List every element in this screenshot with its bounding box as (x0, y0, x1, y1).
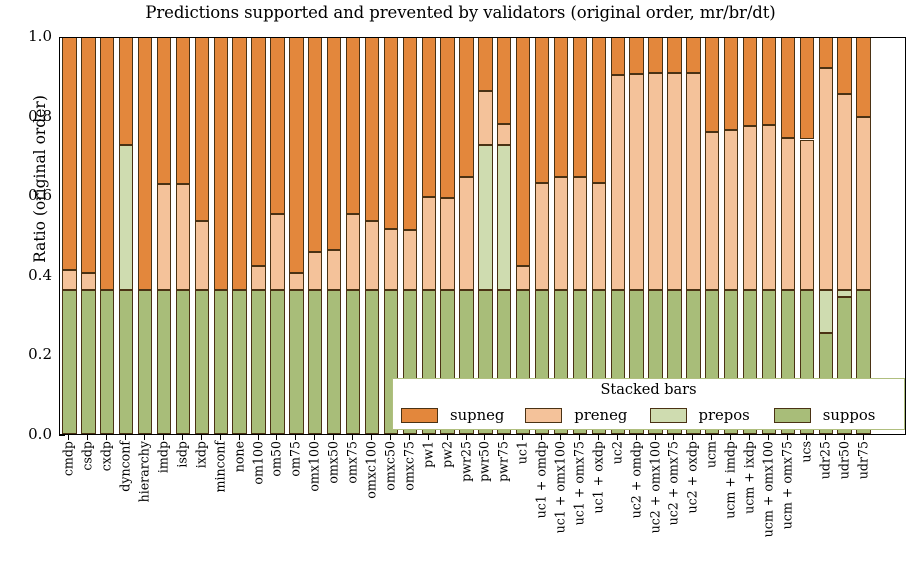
bar-uc1-plus-omx75[interactable] (573, 37, 587, 434)
bar-segment-supneg (289, 37, 303, 273)
x-tick-label: omx75 (346, 441, 359, 484)
bar-segment-supneg (157, 37, 171, 184)
bar-cmdp[interactable] (62, 37, 76, 434)
x-tick-label: om75 (289, 441, 302, 477)
x-tick-label: ixdp (194, 441, 207, 468)
bar-segment-preneg (289, 273, 303, 290)
bar-segment-suppos (176, 290, 190, 434)
x-tick-label: uc1 (516, 441, 529, 464)
bar-segment-supneg (403, 37, 417, 230)
legend-items: supnegprenegprepossuppos (401, 404, 898, 426)
x-tick-label: uc2 + omdp (629, 441, 642, 518)
bar-segment-supneg (422, 37, 436, 197)
x-tick-label: pw2 (440, 441, 453, 468)
bar-segment-preneg (667, 73, 681, 289)
x-tick-label: uc2 + omx75 (667, 441, 680, 525)
x-tick-label: pw1 (421, 441, 434, 468)
x-tick-mark (560, 435, 561, 440)
bar-segment-suppos (308, 290, 322, 434)
x-tick-label: uc2 (610, 441, 623, 464)
bar-segment-suppos (270, 290, 284, 434)
bar-segment-preneg (648, 73, 662, 289)
bar-ucm-plus-ixdp[interactable] (743, 37, 757, 434)
x-tick-mark (844, 435, 845, 440)
legend-swatch-prepos (650, 408, 687, 423)
x-tick-mark (579, 435, 580, 440)
bar-csdp[interactable] (81, 37, 95, 434)
x-tick-label: isdp (175, 441, 188, 468)
bar-segment-preneg (157, 184, 171, 289)
bar-segment-supneg (611, 37, 625, 75)
bar-segment-supneg (856, 37, 870, 117)
bar-segment-prepos (497, 145, 511, 289)
bar-segment-supneg (365, 37, 379, 221)
x-tick-label: hierarchy (138, 441, 151, 502)
bar-omxc75[interactable] (403, 37, 417, 434)
y-tick-label: 0.2 (28, 345, 52, 363)
bar-segment-preneg (270, 214, 284, 290)
bar-segment-supneg (308, 37, 322, 252)
bar-uc2-plus-oxdp[interactable] (686, 37, 700, 434)
bar-segment-preneg (592, 183, 606, 290)
legend-item-supneg[interactable]: supneg (401, 407, 525, 424)
bar-segment-supneg (573, 37, 587, 177)
x-tick-mark (541, 435, 542, 440)
bar-segment-suppos (138, 290, 152, 434)
bar-ixdp[interactable] (195, 37, 209, 434)
bar-ucm-plus-imdp[interactable] (724, 37, 738, 434)
bar-segment-supneg (138, 37, 152, 290)
x-tick-label: omxc100 (364, 441, 377, 499)
y-tick-label: 0.8 (28, 107, 52, 125)
x-tick-mark (144, 435, 145, 440)
x-tick-label: uc2 + oxdp (686, 441, 699, 514)
x-tick-mark (314, 435, 315, 440)
bar-pw2[interactable] (440, 37, 454, 434)
bar-ucm-plus-omx75[interactable] (781, 37, 795, 434)
bar-segment-supneg (100, 37, 114, 290)
bar-segment-preneg (346, 214, 360, 290)
x-tick-label: udr25 (818, 441, 831, 479)
x-tick-mark (87, 435, 88, 440)
legend-item-prepos[interactable]: prepos (650, 407, 774, 424)
x-tick-mark (409, 435, 410, 440)
x-tick-mark (106, 435, 107, 440)
legend: Stacked bars supnegprenegprepossuppos (392, 378, 905, 430)
bar-segment-preneg (403, 230, 417, 290)
bar-minconf[interactable] (214, 37, 228, 434)
bar-segment-suppos (62, 290, 76, 434)
bar-omx50[interactable] (327, 37, 341, 434)
x-tick-label: om100 (251, 441, 264, 485)
legend-label-supneg: supneg (450, 407, 504, 424)
bar-segment-preneg (62, 270, 76, 289)
x-tick-mark (730, 435, 731, 440)
x-tick-mark (428, 435, 429, 440)
x-tick-label: ucm + omx75 (780, 441, 793, 529)
bar-omx75[interactable] (346, 37, 360, 434)
y-tick-label: 1.0 (28, 27, 52, 45)
bar-omxc100[interactable] (365, 37, 379, 434)
y-tick-mark (59, 435, 65, 436)
bar-segment-suppos (365, 290, 379, 434)
legend-label-preneg: preneg (574, 407, 627, 424)
x-tick-label: ucs (799, 441, 812, 463)
bar-segment-preneg (176, 184, 190, 289)
x-tick-label: minconf (213, 441, 226, 493)
bar-segment-suppos (232, 290, 246, 434)
bar-udr50[interactable] (837, 37, 851, 434)
bar-segment-preneg (422, 197, 436, 289)
x-tick-mark (239, 435, 240, 440)
x-tick-mark (447, 435, 448, 440)
bar-segment-suppos (195, 290, 209, 434)
x-tick-mark (258, 435, 259, 440)
bar-segment-preneg (516, 266, 530, 290)
bar-segment-supneg (592, 37, 606, 183)
bar-segment-supneg (819, 37, 833, 68)
x-tick-mark (503, 435, 504, 440)
bar-segment-supneg (497, 37, 511, 124)
bar-segment-supneg (516, 37, 530, 266)
bar-segment-supneg (459, 37, 473, 177)
legend-label-suppos: suppos (823, 407, 876, 424)
x-tick-label: uc1 + omx75 (572, 441, 585, 525)
x-tick-label: cmdp (62, 441, 75, 476)
legend-label-prepos: prepos (699, 407, 750, 424)
x-tick-label: csdp (81, 441, 94, 471)
bar-uc1[interactable] (516, 37, 530, 434)
bar-segment-suppos (327, 290, 341, 434)
x-tick-mark (655, 435, 656, 440)
x-tick-mark (617, 435, 618, 440)
x-tick-mark (673, 435, 674, 440)
bar-segment-preneg (308, 252, 322, 290)
bar-segment-prepos (119, 145, 133, 289)
x-tick-label: uc1 + omdp (535, 441, 548, 518)
bar-segment-preneg (440, 198, 454, 290)
bar-uc2-plus-omx75[interactable] (667, 37, 681, 434)
legend-swatch-preneg (525, 408, 562, 423)
bar-uc2[interactable] (611, 37, 625, 434)
bar-segment-supneg (535, 37, 549, 183)
bar-pwr50[interactable] (478, 37, 492, 434)
bar-om50[interactable] (270, 37, 284, 434)
bar-segment-prepos (478, 145, 492, 289)
bar-segment-suppos (100, 290, 114, 434)
bar-segment-supneg (119, 37, 133, 145)
bar-segment-suppos (346, 290, 360, 434)
bar-segment-supneg (81, 37, 95, 273)
bar-segment-preneg (478, 91, 492, 146)
x-tick-mark (182, 435, 183, 440)
legend-item-suppos[interactable]: suppos (774, 407, 898, 424)
bar-segment-preneg (781, 138, 795, 290)
bar-pwr25[interactable] (459, 37, 473, 434)
x-tick-mark (295, 435, 296, 440)
x-tick-mark (276, 435, 277, 440)
bar-segment-preneg (611, 75, 625, 289)
x-tick-mark (466, 435, 467, 440)
bar-uc2-plus-omx100[interactable] (648, 37, 662, 434)
bar-segment-preneg (365, 221, 379, 289)
bar-pw1[interactable] (422, 37, 436, 434)
x-tick-label: omx50 (327, 441, 340, 484)
bar-segment-prepos (819, 290, 833, 333)
x-tick-label: omx100 (308, 441, 321, 492)
bar-segment-suppos (119, 290, 133, 434)
bar-udr75[interactable] (856, 37, 870, 434)
legend-title: Stacked bars (393, 382, 904, 398)
bar-segment-preneg (686, 73, 700, 289)
x-tick-mark (806, 435, 807, 440)
bar-segment-preneg (81, 273, 95, 290)
x-tick-label: omxc75 (402, 441, 415, 491)
x-tick-mark (787, 435, 788, 440)
bar-uc2-plus-omdp[interactable] (629, 37, 643, 434)
x-tick-label: none (232, 441, 245, 472)
bar-segment-supneg (270, 37, 284, 214)
y-axis-label: Ratio (original order) (31, 29, 49, 329)
legend-swatch-suppos (774, 408, 811, 423)
bar-segment-preneg (327, 250, 341, 289)
bar-segment-supneg (176, 37, 190, 184)
x-tick-label: uc1 + oxdp (591, 441, 604, 514)
bar-segment-supneg (724, 37, 738, 130)
bar-segment-preneg (837, 94, 851, 289)
bar-segment-suppos (81, 290, 95, 434)
x-tick-label: ucm (705, 441, 718, 468)
legend-item-preneg[interactable]: preneg (525, 407, 649, 424)
x-tick-mark (163, 435, 164, 440)
bar-segment-supneg (629, 37, 643, 74)
bar-segment-preneg (459, 177, 473, 290)
bar-segment-supneg (762, 37, 776, 125)
x-tick-mark (371, 435, 372, 440)
bar-imdp[interactable] (157, 37, 171, 434)
bar-ucm-plus-omx100[interactable] (762, 37, 776, 434)
x-tick-mark (484, 435, 485, 440)
x-tick-label: ucm + ixdp (743, 441, 756, 514)
x-tick-mark (220, 435, 221, 440)
bar-uc1-plus-omx100[interactable] (554, 37, 568, 434)
bar-segment-supneg (214, 37, 228, 290)
bar-segment-preneg (819, 68, 833, 290)
bar-hierarchy[interactable] (138, 37, 152, 434)
x-tick-mark (390, 435, 391, 440)
y-tick-label: 0.6 (28, 186, 52, 204)
bar-dynconf[interactable] (119, 37, 133, 434)
bar-segment-supneg (346, 37, 360, 214)
bar-segment-preneg (497, 124, 511, 145)
plot-area (59, 37, 906, 435)
x-tick-label: uc2 + omx100 (648, 441, 661, 533)
x-tick-mark (522, 435, 523, 440)
bar-segment-supneg (384, 37, 398, 229)
x-tick-mark (125, 435, 126, 440)
x-tick-label: cxdp (100, 441, 113, 471)
bar-segment-supneg (195, 37, 209, 221)
bar-ucm[interactable] (705, 37, 719, 434)
x-tick-mark (201, 435, 202, 440)
x-tick-mark (636, 435, 637, 440)
bar-segment-supneg (686, 37, 700, 73)
x-tick-mark (863, 435, 864, 440)
x-tick-mark (825, 435, 826, 440)
bar-segment-preneg (573, 177, 587, 289)
bar-segment-preneg (384, 229, 398, 289)
bar-none[interactable] (232, 37, 246, 434)
y-tick-label: 0.0 (28, 425, 52, 443)
bar-uc1-plus-oxdp[interactable] (592, 37, 606, 434)
x-tick-mark (598, 435, 599, 440)
x-tick-mark (711, 435, 712, 440)
x-tick-mark (352, 435, 353, 440)
legend-swatch-supneg (401, 408, 438, 423)
bar-uc1-plus-omdp[interactable] (535, 37, 549, 434)
chart-figure: Predictions supported and prevented by v… (0, 0, 921, 562)
bar-segment-supneg (478, 37, 492, 91)
y-tick-label: 0.4 (28, 266, 52, 284)
bar-om75[interactable] (289, 37, 303, 434)
x-tick-label: imdp (156, 441, 169, 473)
bar-segment-supneg (705, 37, 719, 132)
x-tick-label: om50 (270, 441, 283, 477)
bar-om100[interactable] (251, 37, 265, 434)
bar-omx100[interactable] (308, 37, 322, 434)
bar-isdp[interactable] (176, 37, 190, 434)
x-tick-label: pwr50 (478, 441, 491, 482)
bar-segment-prepos (837, 290, 851, 297)
bar-segment-supneg (62, 37, 76, 270)
bar-segment-preneg (724, 130, 738, 290)
bar-segment-supneg (648, 37, 662, 73)
bar-omxc50[interactable] (384, 37, 398, 434)
bar-segment-preneg (195, 221, 209, 289)
x-tick-label: omxc50 (383, 441, 396, 491)
bar-segment-supneg (554, 37, 568, 177)
x-tick-label: pwr25 (459, 441, 472, 482)
bar-segment-preneg (800, 140, 814, 290)
bar-segment-supneg (251, 37, 265, 266)
x-tick-label: udr75 (856, 441, 869, 479)
bar-cxdp[interactable] (100, 37, 114, 434)
x-tick-label: ucm + imdp (724, 441, 737, 519)
bar-segment-supneg (232, 37, 246, 290)
x-tick-mark (768, 435, 769, 440)
bar-segment-suppos (289, 290, 303, 434)
bar-segment-supneg (837, 37, 851, 94)
bar-segment-supneg (781, 37, 795, 138)
x-tick-mark (333, 435, 334, 440)
x-tick-mark (68, 435, 69, 440)
bar-segment-preneg (629, 74, 643, 290)
bar-segment-preneg (705, 132, 719, 290)
x-tick-label: uc1 + omx100 (554, 441, 567, 533)
bar-segment-suppos (157, 290, 171, 434)
bar-segment-supneg (440, 37, 454, 198)
bar-segment-supneg (327, 37, 341, 250)
bar-segment-supneg (667, 37, 681, 73)
bar-segment-preneg (762, 125, 776, 290)
bar-segment-preneg (535, 183, 549, 290)
bar-segment-preneg (554, 177, 568, 290)
x-tick-label: udr50 (837, 441, 850, 479)
x-tick-label: dynconf (119, 441, 132, 492)
x-tick-label: ucm + omx100 (762, 441, 775, 537)
bar-pwr75[interactable] (497, 37, 511, 434)
bar-segment-suppos (251, 290, 265, 434)
bars-container (60, 38, 905, 434)
bar-segment-supneg (743, 37, 757, 126)
bar-segment-supneg (800, 37, 814, 139)
chart-title: Predictions supported and prevented by v… (0, 2, 921, 24)
bar-segment-preneg (856, 117, 870, 290)
bar-segment-preneg (251, 266, 265, 289)
bar-segment-suppos (214, 290, 228, 434)
bar-ucs[interactable] (800, 37, 814, 434)
x-tick-mark (692, 435, 693, 440)
x-tick-label: pwr75 (497, 441, 510, 482)
bar-segment-preneg (743, 126, 757, 289)
x-tick-mark (749, 435, 750, 440)
bar-udr25[interactable] (819, 37, 833, 434)
